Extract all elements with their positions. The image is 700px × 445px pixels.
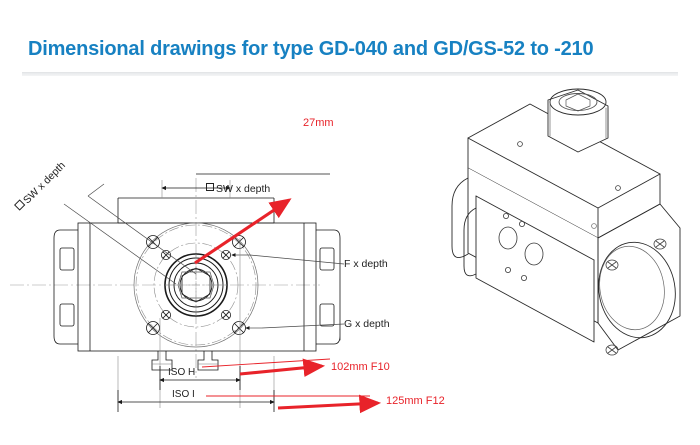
label-sw-depth-top: SW x depth [206,183,270,195]
dimension-label-iso-i: ISO I [172,389,195,400]
title-divider [22,72,678,76]
callout-27mm-label: 27mm [303,117,334,129]
dimension-label-iso-h: ISO H [168,367,195,378]
actuator-body-outline [54,223,340,351]
label-sw-depth-top-text: SW x depth [216,183,270,195]
callout-125mm-label: 125mm F12 [386,395,445,407]
label-g-depth: G x depth [344,318,390,330]
arrow-27mm [195,200,289,263]
square-symbol-icon [206,183,214,191]
label-f-depth: F x depth [344,258,388,270]
arrow-125mm [278,403,378,408]
callout-102mm-label: 102mm F10 [331,361,390,373]
leader-lines-sw [64,184,196,284]
arrow-102mm [240,366,322,374]
page-root: Dimensional drawings for type GD-040 and… [0,0,700,445]
isometric-actuator-illustration [452,89,683,355]
page-title: Dimensional drawings for type GD-040 and… [28,38,593,61]
dimension-line-iso-i [118,390,274,412]
